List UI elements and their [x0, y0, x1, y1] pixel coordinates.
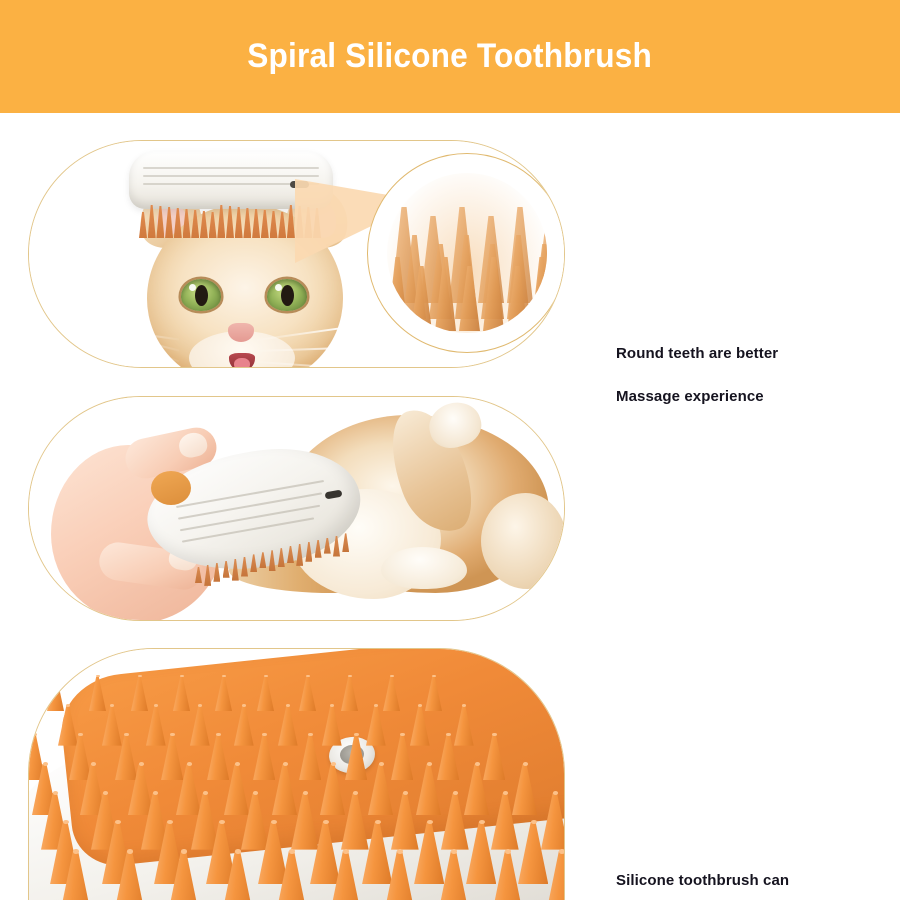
- cat-hind-leg: [481, 493, 565, 589]
- feature-section-2: Silicone toothbrush can Better at sticki…: [28, 396, 565, 621]
- cat-pupil-left: [195, 285, 208, 306]
- page-title: Spiral Silicone Toothbrush: [248, 37, 653, 76]
- caption-1-line-1: Round teeth are better: [616, 345, 900, 362]
- scene-hand-grooming-cat: [29, 397, 564, 620]
- caption-group-1: Round teeth are better Massage experienc…: [616, 330, 900, 420]
- photo-frame-2: [28, 396, 565, 621]
- feature-section-3: The tapered spiral design is suitable fo…: [28, 648, 565, 900]
- brush-bristle-row-2: [195, 527, 353, 579]
- photo-frame-1: [28, 140, 565, 368]
- feature-section-1: Round teeth are better Massage experienc…: [28, 140, 565, 368]
- magnifier-bristle-closeup: [387, 173, 547, 333]
- brush-thumb-grip: [151, 471, 191, 505]
- header-banner: Spiral Silicone Toothbrush: [0, 0, 900, 113]
- caption-1-line-2: Massage experience: [616, 388, 900, 405]
- cat-tongue: [234, 358, 250, 368]
- cat-pupil-right: [281, 285, 294, 306]
- product-infographic: Spiral Silicone Toothbrush: [0, 0, 900, 900]
- caption-2-line-1: Silicone toothbrush can: [616, 872, 900, 889]
- scene-cat-with-brush: [29, 141, 564, 367]
- scene-brush-head-closeup: [29, 649, 564, 900]
- cat-paw-front: [381, 547, 467, 589]
- photo-frame-3: [28, 648, 565, 900]
- cat-eye-glint-left: [189, 284, 196, 291]
- caption-group-2: Silicone toothbrush can Better at sticki…: [616, 858, 900, 900]
- cat-mouth: [229, 353, 255, 368]
- cat-eye-glint-right: [275, 284, 282, 291]
